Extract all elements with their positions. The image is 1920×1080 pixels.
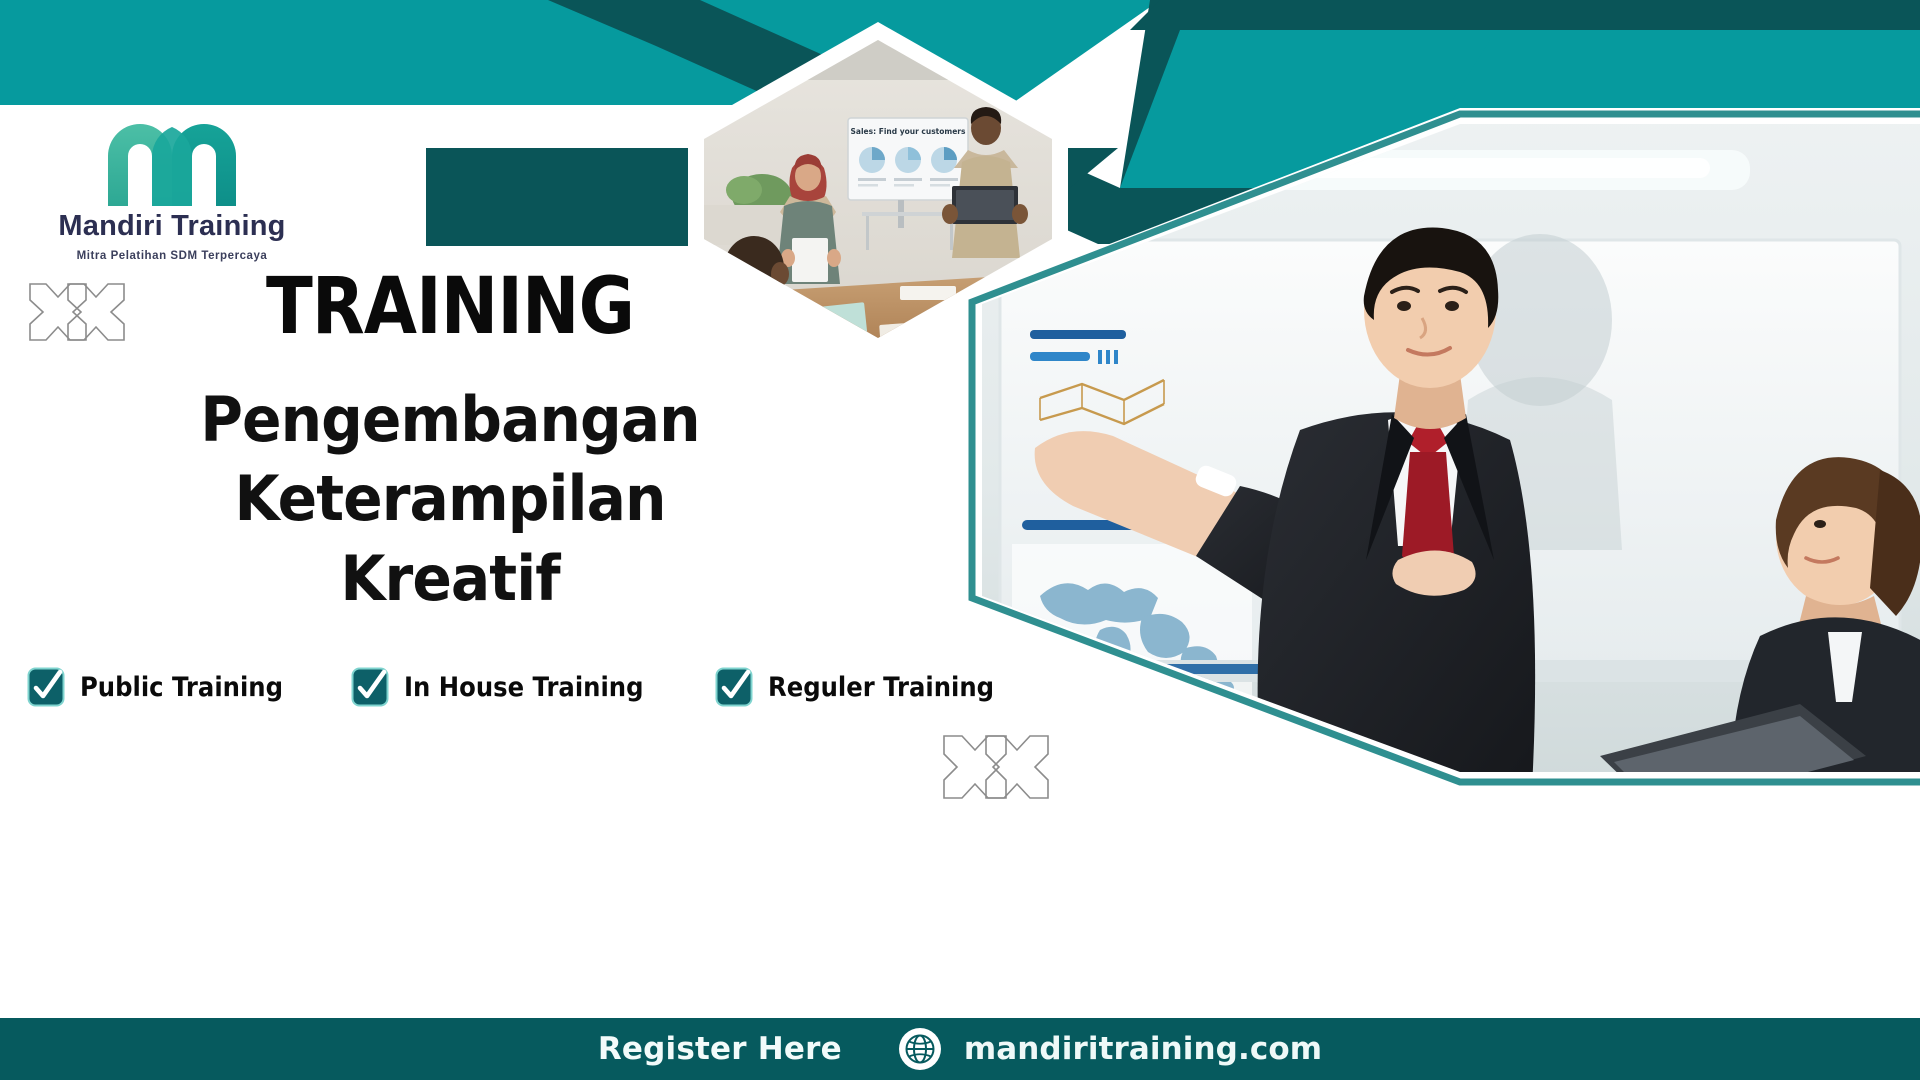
logo-name: Mandiri Training xyxy=(42,212,302,241)
website-link[interactable]: mandiritraining.com xyxy=(898,1027,1322,1071)
title-line-2: Kreatif xyxy=(340,542,559,615)
checkbox-checked-icon[interactable] xyxy=(714,665,754,709)
training-type-list: Public Training In House Training Regule… xyxy=(26,665,1019,709)
register-here-label[interactable]: Register Here xyxy=(598,1031,842,1067)
feature-public-training[interactable]: Public Training xyxy=(26,665,306,709)
kicker-training: TRAINING xyxy=(54,268,846,346)
feature-label: Public Training xyxy=(80,672,283,703)
feature-reguler-training[interactable]: Reguler Training xyxy=(714,665,1019,709)
checkbox-checked-icon[interactable] xyxy=(26,665,66,709)
page-title: Pengembangan Keterampilan Kreatif xyxy=(27,380,873,618)
double-x-mark-bottom-group xyxy=(944,736,1048,798)
footer-bar: Register Here mandiritraining.com xyxy=(0,1018,1920,1080)
feature-in-house-training[interactable]: In House Training xyxy=(350,665,670,709)
logo-tagline: Mitra Pelatihan SDM Terpercaya xyxy=(42,250,302,262)
svg-text:Sales: Find your customers: Sales: Find your customers xyxy=(851,127,966,136)
feature-label: In House Training xyxy=(404,672,643,703)
poster-canvas: Sales: Find your customers xyxy=(0,0,1920,1080)
globe-icon xyxy=(898,1027,942,1071)
headline-block: TRAINING Pengembangan Keterampilan Kreat… xyxy=(0,268,900,618)
title-line-1: Pengembangan Keterampilan xyxy=(200,383,700,535)
hex-right-photo-group xyxy=(960,100,1920,850)
checkbox-checked-icon[interactable] xyxy=(350,665,390,709)
double-arch-m-icon xyxy=(92,108,252,206)
feature-label: Reguler Training xyxy=(768,672,994,703)
brand-logo[interactable]: Mandiri Training Mitra Pelatihan SDM Ter… xyxy=(42,108,302,262)
website-url: mandiritraining.com xyxy=(964,1031,1322,1067)
